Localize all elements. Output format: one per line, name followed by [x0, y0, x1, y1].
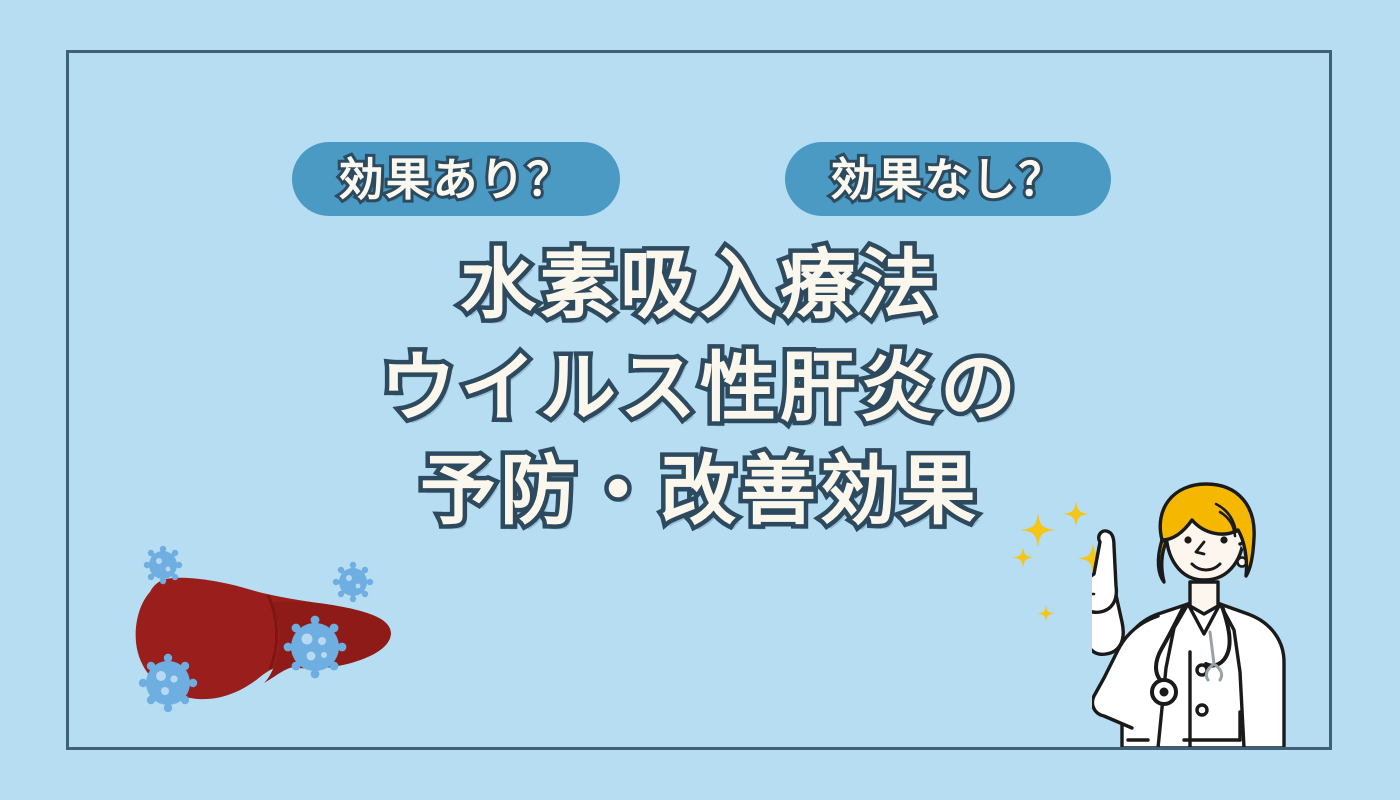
title-line-2: ウイルス性肝炎の [0, 351, 1400, 425]
sparkle-icon-2 [1063, 501, 1089, 527]
badge-effect-no[interactable]: 効果なし？ [785, 142, 1111, 216]
virus-particle-top-right [333, 562, 373, 602]
doctor-hair-side-left [1158, 540, 1166, 582]
title-line-1: 水素吸入療法 [0, 248, 1400, 322]
badge-effect-yes[interactable]: 効果あり？ [292, 142, 620, 216]
sparkle-icon-4 [1013, 547, 1034, 568]
badge-effect-yes-label: 効果あり？ [338, 157, 573, 202]
doctor-pointing-hand [1092, 531, 1116, 612]
doctor-neck [1190, 582, 1218, 614]
coat-button-2 [1197, 705, 1207, 715]
doctor-eye-right [1220, 536, 1227, 543]
virus-particle-center-right [284, 616, 347, 679]
doctor-illustration [1092, 482, 1307, 748]
poster-canvas: 効果あり？ 効果なし？ 水素吸入療法 ウイルス性肝炎の 予防・改善効果 [0, 0, 1400, 800]
liver-illustration [118, 545, 408, 720]
stethoscope-chestpiece-center [1160, 688, 1169, 697]
virus-particle-top-left [144, 546, 182, 584]
badge-effect-no-label: 効果なし？ [830, 157, 1065, 202]
sparkle-icon-5 [1038, 605, 1055, 622]
sparkle-icon-1 [1021, 513, 1055, 547]
doctor-eye-left [1184, 536, 1191, 543]
